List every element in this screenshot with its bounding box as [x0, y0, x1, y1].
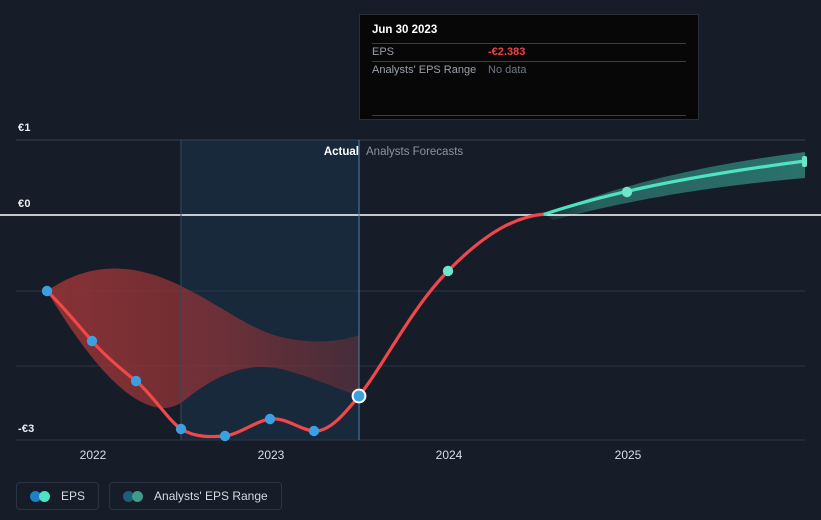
forecast-point-marker[interactable] [443, 266, 453, 276]
y-axis-tick-minus3: -€3 [18, 423, 35, 435]
tooltip-row-range: Analysts' EPS Range No data [372, 61, 686, 79]
tooltip-value-range: No data [488, 64, 527, 76]
eps-transition-line [359, 214, 545, 396]
legend-label-eps: EPS [61, 489, 85, 503]
forecast-endpoint-marker[interactable] [802, 156, 807, 167]
x-axis-tick-2023: 2023 [258, 448, 285, 462]
legend-label-analysts-eps-range: Analysts' EPS Range [154, 489, 268, 503]
data-point-marker[interactable] [176, 424, 186, 434]
tooltip-key-eps: EPS [372, 46, 488, 58]
data-point-marker[interactable] [42, 286, 52, 296]
chart-legend: EPS Analysts' EPS Range [16, 482, 282, 510]
tooltip-footer-divider [372, 115, 686, 116]
legend-swatch-eps-icon [30, 491, 52, 502]
eps-chart-widget: €1 €0 -€3 2022 2023 2024 2025 Actual Ana… [0, 0, 821, 520]
tooltip-value-eps: -€2.383 [488, 46, 525, 58]
data-point-marker[interactable] [87, 336, 97, 346]
analysts-eps-range-band [545, 152, 805, 220]
x-axis-tick-2025: 2025 [615, 448, 642, 462]
y-axis-tick-1: €1 [18, 122, 31, 134]
x-axis-tick-2022: 2022 [80, 448, 107, 462]
legend-item-analysts-eps-range[interactable]: Analysts' EPS Range [109, 482, 282, 510]
legend-item-eps[interactable]: EPS [16, 482, 99, 510]
data-point-marker[interactable] [131, 376, 141, 386]
x-axis-tick-2024: 2024 [436, 448, 463, 462]
forecast-point-marker[interactable] [622, 187, 632, 197]
chart-tooltip: Jun 30 2023 EPS -€2.383 Analysts' EPS Ra… [359, 14, 699, 120]
tooltip-row-eps: EPS -€2.383 [372, 43, 686, 61]
tooltip-title: Jun 30 2023 [372, 24, 686, 36]
data-point-marker[interactable] [220, 431, 230, 441]
data-point-marker[interactable] [265, 414, 275, 424]
forecast-period-label: Analysts Forecasts [366, 146, 463, 158]
hover-highlight-region [181, 140, 359, 440]
actual-period-label: Actual [324, 146, 359, 158]
y-axis-tick-0: €0 [18, 198, 31, 210]
tooltip-key-range: Analysts' EPS Range [372, 64, 488, 76]
legend-swatch-range-icon [123, 491, 145, 502]
highlighted-data-point[interactable] [353, 390, 366, 403]
data-point-marker[interactable] [309, 426, 319, 436]
